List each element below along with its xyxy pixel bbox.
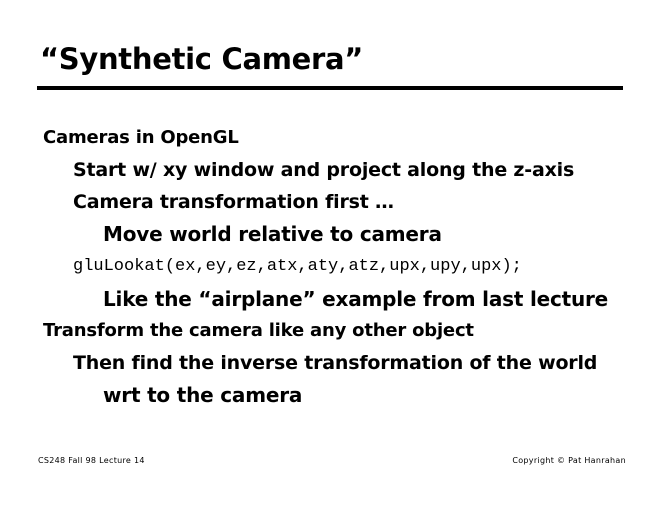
slide-body: Cameras in OpenGL Start w/ xy window and…	[0, 122, 660, 411]
footer-copyright: Copyright © Pat Hanrahan	[512, 456, 626, 466]
page-title: “Synthetic Camera”	[40, 42, 363, 76]
code-line: gluLookat(ex,ey,ez,atx,aty,atz,upx,upy,u…	[0, 250, 660, 283]
body-line: Start w/ xy window and project along the…	[0, 154, 660, 186]
footer-course-label: CS248 Fall 98 Lecture 14	[38, 456, 145, 466]
body-line: Then find the inverse transformation of …	[0, 347, 660, 379]
body-line: Move world relative to camera	[0, 218, 660, 250]
body-line: Like the “airplane” example from last le…	[0, 283, 660, 315]
title-divider	[37, 86, 623, 90]
slide-canvas: “Synthetic Camera” Cameras in OpenGL Sta…	[0, 0, 660, 510]
body-line: Cameras in OpenGL	[0, 122, 660, 154]
body-line: Camera transformation first …	[0, 186, 660, 218]
body-line: Transform the camera like any other obje…	[0, 315, 660, 347]
body-line: wrt to the camera	[0, 379, 660, 411]
